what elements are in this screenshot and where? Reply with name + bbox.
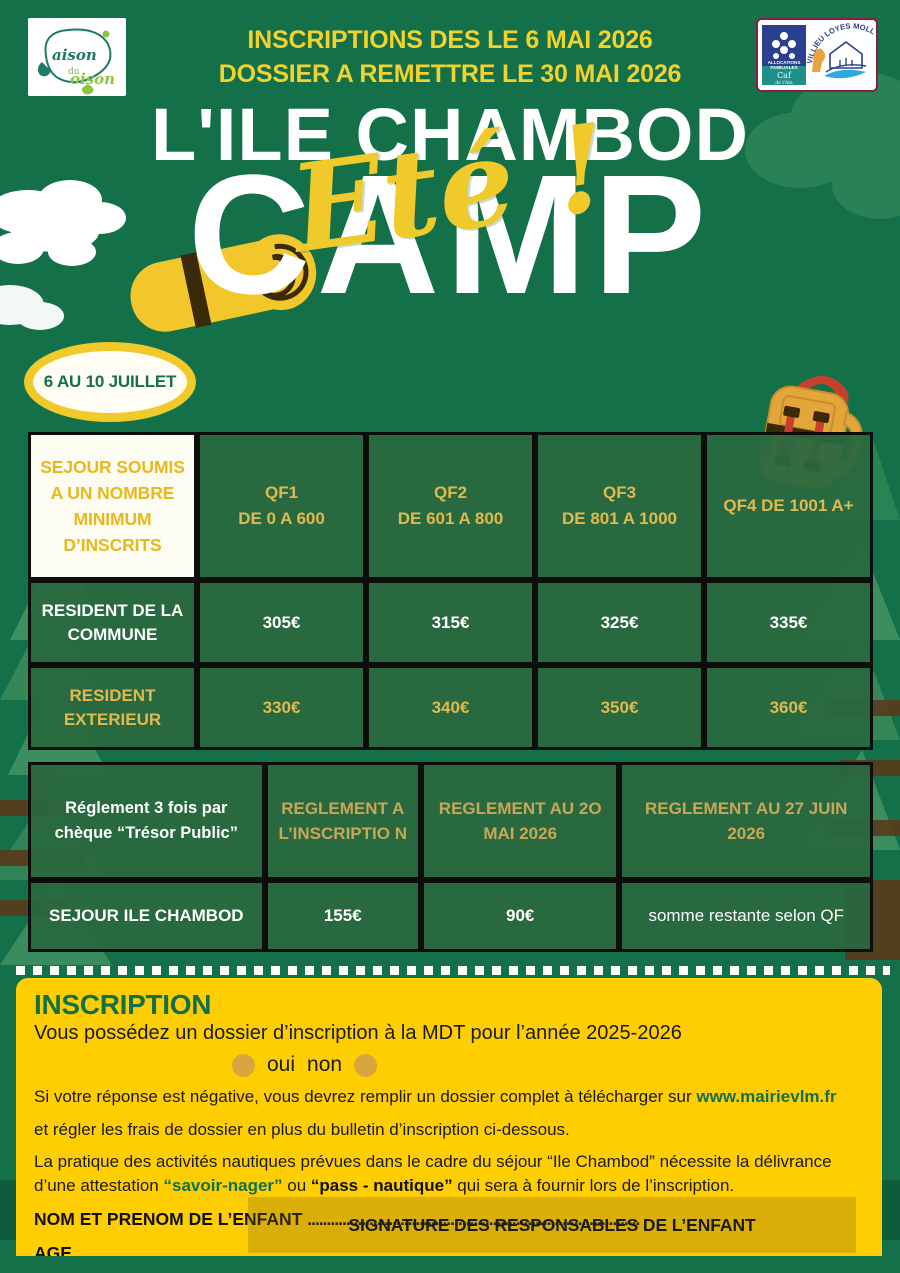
inscription-paragraph-3: La pratique des activités nautiques prév…	[34, 1150, 866, 1198]
table-row-header: SEJOUR SOUMIS A UN NOMBRE MINIMUM D’INSC…	[28, 432, 873, 580]
inscription-title: INSCRIPTION	[34, 990, 866, 1019]
signature-label: SIGNATURE DES RESPONSABLES DE L’ENFANT	[348, 1215, 755, 1236]
inscription-paragraph-2: et régler les frais de dossier en plus d…	[34, 1118, 866, 1142]
cell-reglement-inscription: REGLEMENT A L’INSCRIPTIO N	[265, 762, 421, 880]
field-age-input[interactable]: .............	[77, 1243, 127, 1256]
table-tarifs: SEJOUR SOUMIS A UN NOMBRE MINIMUM D’INSC…	[28, 432, 873, 750]
date-badge-label: 6 AU 10 JUILLET	[44, 372, 176, 392]
cell-reglement-27-juin: REGLEMENT AU 27 JUIN 2026	[619, 762, 873, 880]
price-commune-qf3: 325€	[535, 580, 704, 665]
row-label-resident-commune: RESIDENT DE LA COMMUNE	[28, 580, 197, 665]
table-row: RESIDENT EXTERIEUR 330€ 340€ 350€ 360€	[28, 665, 873, 750]
price-commune-qf4: 335€	[704, 580, 873, 665]
poster-root: aison du oison INSCRIPTIONS DES LE 6 MAI…	[0, 0, 900, 1273]
table-row: SEJOUR ILE CHAMBOD 155€ 90€ somme restan…	[28, 880, 873, 952]
field-age-label: AGE	[34, 1243, 72, 1256]
signature-box[interactable]: SIGNATURE DES RESPONSABLES DE L’ENFANT	[248, 1197, 856, 1253]
table-row-header: Réglement 3 fois par chèque “Trésor Publ…	[28, 762, 873, 880]
price-exterieur-qf1: 330€	[197, 665, 366, 750]
cell-reglement-20-mai: REGLEMENT AU 2O MAI 2026	[421, 762, 620, 880]
inscription-paragraph-1: Si votre réponse est négative, vous devr…	[34, 1085, 866, 1109]
table-row: RESIDENT DE LA COMMUNE 305€ 315€ 325€ 33…	[28, 580, 873, 665]
para3-text-e: qui sera à fournir lors de l’inscription…	[453, 1176, 735, 1195]
radio-oui[interactable]	[232, 1054, 255, 1077]
radio-non[interactable]	[354, 1054, 377, 1077]
header-line-1: INSCRIPTIONS DES LE 6 MAI 2026	[170, 24, 730, 58]
poster-header: aison du oison INSCRIPTIONS DES LE 6 MAI…	[0, 0, 900, 108]
svg-text:aison: aison	[52, 46, 97, 64]
svg-text:oison: oison	[70, 70, 115, 88]
reglement-amount-1: 155€	[265, 880, 421, 952]
svg-text:Caf: Caf	[777, 71, 792, 80]
label-non: non	[307, 1053, 342, 1077]
price-commune-qf1: 305€	[197, 580, 366, 665]
svg-text:de l'Ain: de l'Ain	[775, 80, 792, 86]
qf2-range: DE 601 A 800	[375, 506, 526, 532]
savoir-nager-term: “savoir-nager”	[163, 1176, 282, 1195]
maison-du-toison-logo-icon: aison du oison	[28, 18, 126, 96]
para1-text-a: Si votre réponse est négative, vous devr…	[34, 1087, 696, 1106]
reglement-amount-2: 90€	[421, 880, 620, 952]
para3-text-c: ou	[283, 1176, 311, 1195]
mairie-website-link[interactable]: www.mairievlm.fr	[696, 1087, 836, 1106]
qf4-title: QF4 DE 1001 A+	[713, 493, 864, 519]
oui-non-choice: oui non	[34, 1053, 866, 1077]
price-exterieur-qf4: 360€	[704, 665, 873, 750]
qf3-title: QF3	[544, 480, 695, 506]
row-label-resident-exterieur: RESIDENT EXTERIEUR	[28, 665, 197, 750]
cell-qf3: QF3 DE 801 A 1000	[535, 432, 704, 580]
table-reglement: Réglement 3 fois par chèque “Trésor Publ…	[28, 762, 873, 952]
caf-villieu-logo-icon: ALLOCATIONS FAMILIALES Caf de l'Ain VILL…	[758, 20, 876, 90]
title-camp: CAMP	[0, 166, 900, 305]
qf3-range: DE 801 A 1000	[544, 506, 695, 532]
inscription-subtitle: Vous possédez un dossier d’inscription à…	[34, 1021, 866, 1046]
cell-sejour-minimum: SEJOUR SOUMIS A UN NOMBRE MINIMUM D’INSC…	[28, 432, 197, 580]
qf1-range: DE 0 A 600	[206, 506, 357, 532]
date-badge: 6 AU 10 JUILLET	[24, 342, 196, 422]
poster-title-block: L'ILE CHAMBOD CAMP	[0, 100, 900, 306]
row-label-sejour-ile-chambod: SEJOUR ILE CHAMBOD	[28, 880, 265, 952]
price-commune-qf2: 315€	[366, 580, 535, 665]
header-dates: INSCRIPTIONS DES LE 6 MAI 2026 DOSSIER A…	[170, 24, 730, 92]
maison-du-toison-logo: aison du oison	[28, 18, 126, 96]
svg-text:FAMILIALES: FAMILIALES	[770, 65, 797, 70]
reglement-amount-3: somme restante selon QF	[619, 880, 873, 952]
partner-logos: ALLOCATIONS FAMILIALES Caf de l'Ain VILL…	[756, 18, 878, 92]
label-oui: oui	[267, 1053, 295, 1077]
price-exterieur-qf2: 340€	[366, 665, 535, 750]
cut-line-divider	[16, 966, 890, 975]
pricing-tables: SEJOUR SOUMIS A UN NOMBRE MINIMUM D’INSC…	[28, 432, 873, 952]
cell-qf1: QF1 DE 0 A 600	[197, 432, 366, 580]
qf2-title: QF2	[375, 480, 526, 506]
price-exterieur-qf3: 350€	[535, 665, 704, 750]
cell-qf2: QF2 DE 601 A 800	[366, 432, 535, 580]
pass-nautique-term: “pass - nautique”	[311, 1176, 453, 1195]
cell-reglement-3-fois: Réglement 3 fois par chèque “Trésor Publ…	[28, 762, 265, 880]
header-line-2: DOSSIER A REMETTRE LE 30 MAI 2026	[170, 58, 730, 92]
cell-qf4: QF4 DE 1001 A+	[704, 432, 873, 580]
qf1-title: QF1	[206, 480, 357, 506]
